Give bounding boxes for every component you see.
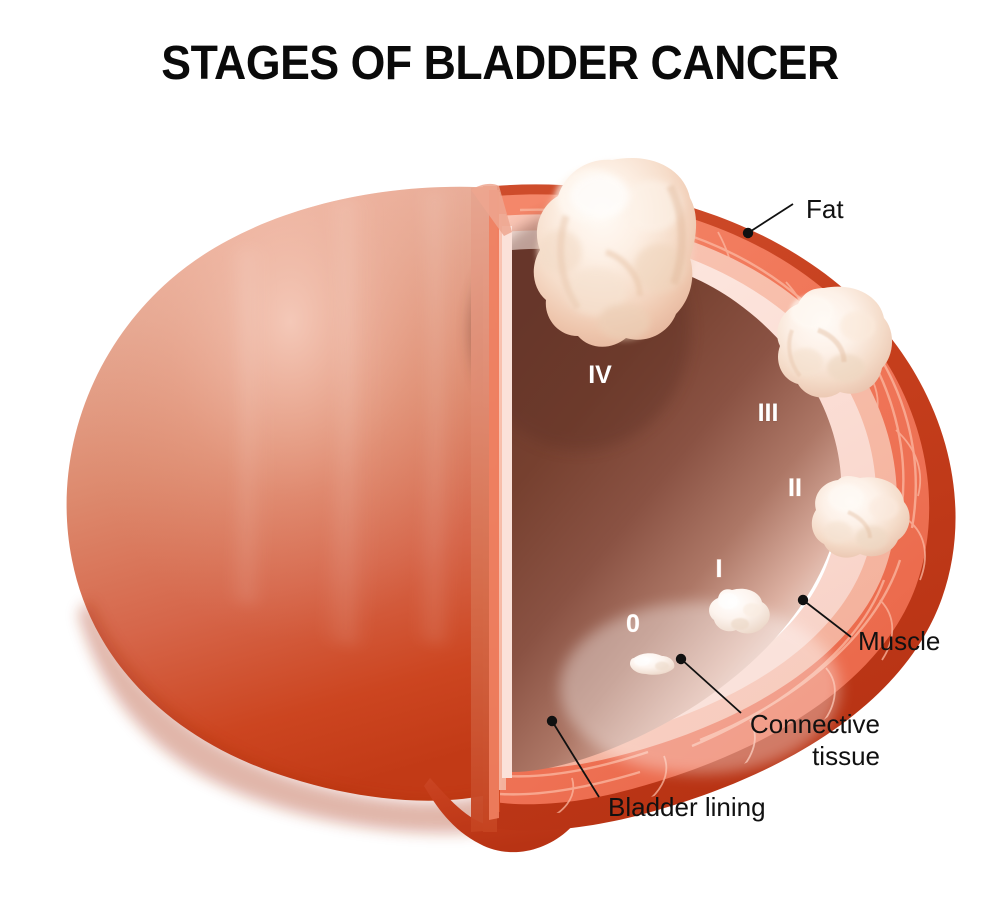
fat-leader-dot bbox=[743, 228, 753, 238]
stage-label-3: III bbox=[758, 399, 779, 427]
bladder-lining-leader-dot bbox=[547, 716, 557, 726]
stage-label-0: 0 bbox=[626, 610, 640, 638]
cavity-glow bbox=[560, 602, 840, 774]
cut-plane bbox=[471, 184, 512, 832]
bladder-cancer-stages-figure: STAGES OF BLADDER CANCER bbox=[0, 0, 1000, 897]
connective-tissue-label-line2: tissue bbox=[812, 741, 880, 771]
connective-tissue-label-line1: Connective bbox=[750, 709, 880, 739]
fat-label: Fat bbox=[806, 194, 844, 224]
bladder-body-highlights bbox=[226, 190, 468, 648]
bladder-body bbox=[67, 187, 497, 833]
fat-leader-line bbox=[748, 204, 793, 233]
stage-label-2: II bbox=[788, 474, 802, 502]
bladder-lining-label: Bladder lining bbox=[608, 792, 766, 822]
bladder-diagram: IV III II I 0 Fat Muscle Connective tiss… bbox=[0, 0, 1000, 897]
callout-fat: Fat bbox=[743, 194, 845, 238]
cut-plane-face-inner bbox=[489, 190, 499, 820]
tumor-stage-3 bbox=[777, 287, 892, 398]
stage-label-4: IV bbox=[588, 361, 612, 389]
muscle-leader-dot bbox=[798, 595, 808, 605]
stage-label-1: I bbox=[716, 555, 723, 583]
muscle-label: Muscle bbox=[858, 626, 940, 656]
connective-tissue-leader-dot bbox=[676, 654, 686, 664]
cut-plane-lining-ridge bbox=[502, 226, 512, 778]
